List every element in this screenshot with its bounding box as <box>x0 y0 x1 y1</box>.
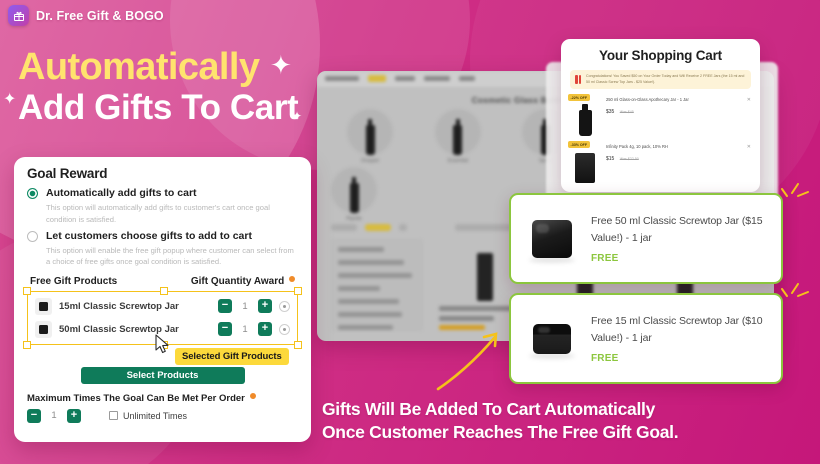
radio-label: Let customers choose gifts to add to car… <box>46 230 252 243</box>
max-times-row: − 1 + Unlimited Times <box>27 409 298 423</box>
quantity-value: 1 <box>236 324 254 335</box>
gift-table-header: Free Gift Products Gift Quantity Award <box>30 276 295 287</box>
product-name: 15ml Classic Screwtop Jar <box>59 301 211 312</box>
radio-option-customer-choose[interactable]: Let customers choose gifts to add to car… <box>27 230 298 243</box>
gift-ribbon-icon <box>575 75 581 84</box>
gift-product-name: Free 50 ml Classic Screwtop Jar ($15 Val… <box>591 213 771 246</box>
increment-button[interactable]: + <box>67 409 81 423</box>
radio-icon-unselected[interactable] <box>27 231 38 242</box>
remove-product-icon[interactable] <box>279 301 290 312</box>
hero-headline: Automatically Add Gifts To Cart <box>18 48 298 127</box>
discount-badge: -22% OFF <box>568 94 590 101</box>
decrement-button[interactable]: − <box>218 299 232 313</box>
remove-product-icon[interactable] <box>279 324 290 335</box>
poster-canvas: Dr. Free Gift & BOGO Automatically Add G… <box>0 0 820 464</box>
free-gift-card: Free 50 ml Classic Screwtop Jar ($15 Val… <box>509 193 783 284</box>
remove-item-icon[interactable]: ✕ <box>747 144 751 150</box>
info-icon[interactable] <box>250 393 256 399</box>
checkbox-icon[interactable] <box>109 411 118 420</box>
cart-item-old-price: Was $22.50 <box>620 157 639 161</box>
cart-item-old-price: Was $45 <box>620 110 634 114</box>
product-name: 50ml Classic Screwtop Jar <box>59 324 211 335</box>
decrement-button[interactable]: − <box>27 409 41 423</box>
increment-button[interactable]: + <box>258 322 272 336</box>
select-products-button[interactable]: Select Products <box>81 367 245 384</box>
gift-product-row: 15ml Classic Screwtop Jar − 1 + <box>33 295 292 318</box>
product-thumbnail <box>35 321 52 338</box>
product-thumbnail <box>35 298 52 315</box>
selection-handle[interactable] <box>23 341 31 349</box>
remove-item-icon[interactable]: ✕ <box>747 97 751 103</box>
cart-line-item: -33% OFF Infinity Pack 4g, 10 pack, 10% … <box>561 136 760 183</box>
brand-logo: Dr. Free Gift & BOGO <box>8 5 164 26</box>
hero-line-2: Add Gifts To Cart <box>18 90 298 127</box>
curved-arrow-icon <box>435 325 515 400</box>
hero-line-1: Automatically <box>18 48 298 87</box>
shopping-cart-panel: Your Shopping Cart Congratulations! You … <box>561 39 760 192</box>
gift-product-image <box>519 308 585 370</box>
unlimited-times-checkbox[interactable]: Unlimited Times <box>109 411 187 421</box>
gift-price: FREE <box>591 353 771 364</box>
cart-item-price: $35 <box>606 109 614 115</box>
radio-description: This option will automatically add gifts… <box>46 202 298 225</box>
gift-product-name: Free 15 ml Classic Screwtop Jar ($10 Val… <box>591 313 771 346</box>
bottom-caption: Gifts Will Be Added To Cart Automaticall… <box>322 398 678 444</box>
selected-gift-products-tooltip: Selected Gift Products <box>175 348 289 365</box>
gift-price: FREE <box>591 253 771 264</box>
info-icon[interactable] <box>289 276 295 282</box>
max-times-text: Maximum Times The Goal Can Be Met Per Or… <box>27 393 245 404</box>
caption-line-1: Gifts Will Be Added To Cart Automaticall… <box>322 398 678 421</box>
radio-label: Automatically add gifts to cart <box>46 187 197 200</box>
max-times-stepper[interactable]: − 1 + <box>27 409 81 423</box>
brand-name: Dr. Free Gift & BOGO <box>36 9 164 23</box>
mouse-cursor-icon <box>155 334 170 359</box>
selection-handle[interactable] <box>294 287 302 295</box>
radio-description: This option will enable the free gift po… <box>46 245 298 268</box>
quantity-value: 1 <box>236 301 254 312</box>
goal-reward-card: Goal Reward Automatically add gifts to c… <box>14 157 311 442</box>
column-header-quantity: Gift Quantity Award <box>191 276 284 287</box>
cart-title: Your Shopping Cart <box>561 48 760 63</box>
selection-handle[interactable] <box>294 341 302 349</box>
gift-icon <box>8 5 29 26</box>
cart-item-name: 250 ml Glass-on-Glass Apothecary Jar - 1… <box>606 97 751 104</box>
increment-button[interactable]: + <box>258 299 272 313</box>
max-times-value: 1 <box>45 410 63 421</box>
radio-icon-selected[interactable] <box>27 188 38 199</box>
column-header-products: Free Gift Products <box>30 276 117 287</box>
checkbox-label: Unlimited Times <box>123 411 187 421</box>
selection-handle[interactable] <box>23 287 31 295</box>
gift-product-image <box>519 208 585 270</box>
caption-line-2: Once Customer Reaches The Free Gift Goal… <box>322 421 678 444</box>
max-times-label: Maximum Times The Goal Can Be Met Per Or… <box>27 393 298 404</box>
cart-banner-text: Congratulations! You Saved $50 on Your O… <box>586 74 746 85</box>
cart-item-price: $15 <box>606 156 614 162</box>
cart-line-item: -22% OFF 250 ml Glass-on-Glass Apothecar… <box>561 89 760 136</box>
selection-handle[interactable] <box>160 287 168 295</box>
radio-option-auto-add[interactable]: Automatically add gifts to cart <box>27 187 298 200</box>
goal-reward-title: Goal Reward <box>27 166 298 181</box>
cart-item-name: Infinity Pack 4g, 10 pack, 10% RH <box>606 144 751 151</box>
quantity-stepper[interactable]: − 1 + <box>218 299 272 313</box>
quantity-stepper[interactable]: − 1 + <box>218 322 272 336</box>
free-gift-card: Free 15 ml Classic Screwtop Jar ($10 Val… <box>509 293 783 384</box>
cart-congrats-banner: Congratulations! You Saved $50 on Your O… <box>570 70 751 89</box>
decrement-button[interactable]: − <box>218 322 232 336</box>
discount-badge: -33% OFF <box>568 141 590 148</box>
